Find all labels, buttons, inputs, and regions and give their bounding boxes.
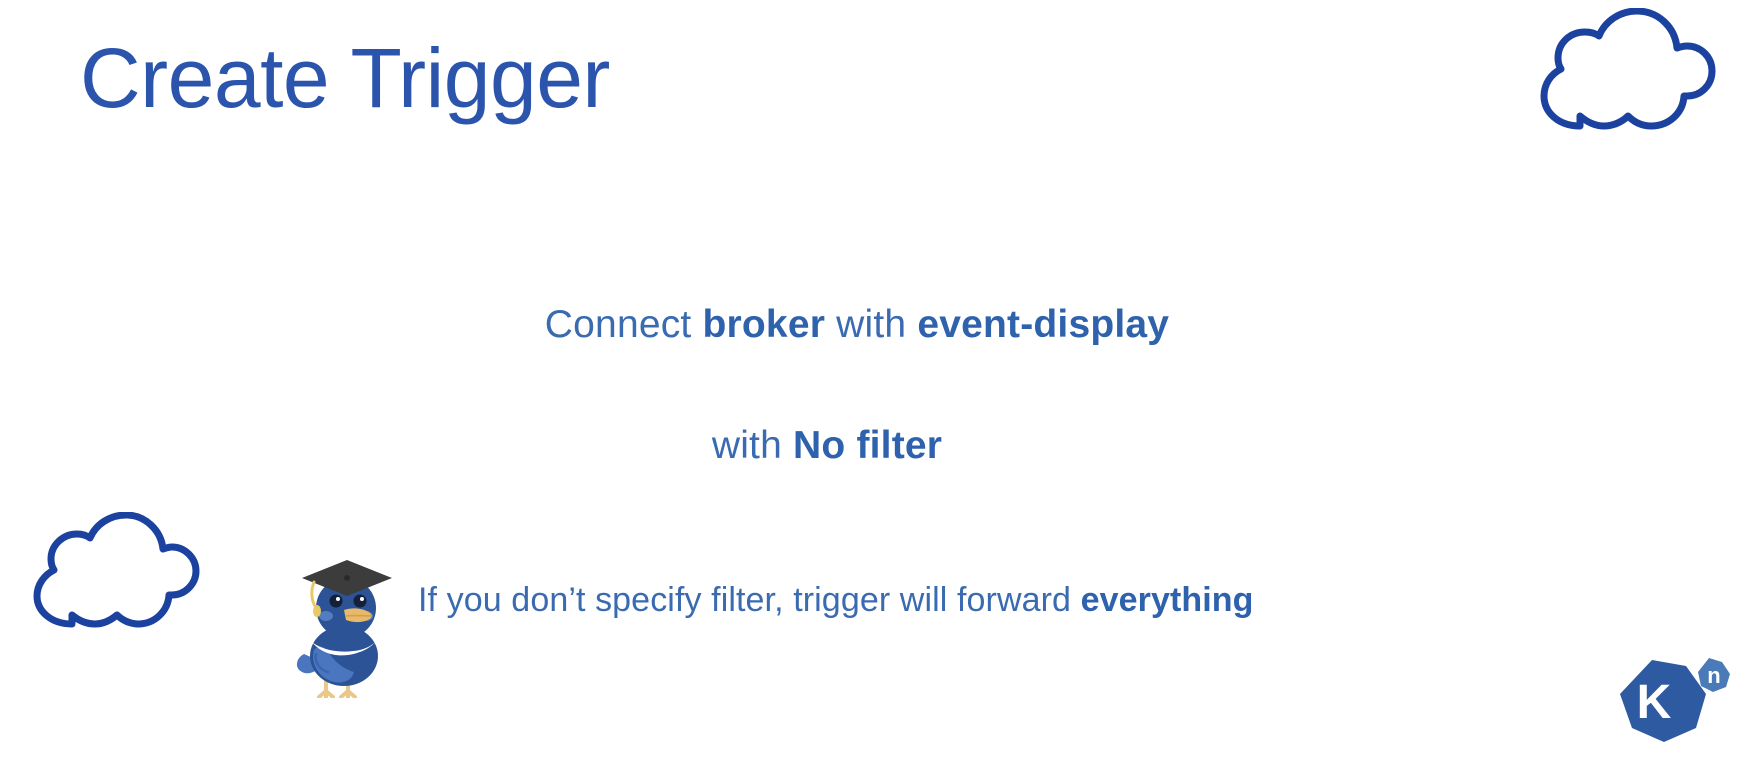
line1-bold-event-display: event-display [917,303,1169,346]
body-line-3: If you don’t specify filter, trigger wil… [418,581,1254,620]
knative-logo-k: K [1637,676,1672,729]
cloud-outline-icon [1518,8,1718,136]
line3-text-part1: If you don’t specify filter, trigger wil… [418,581,1081,619]
line2-bold-no-filter: No filter [793,424,942,467]
knative-logo-n: n [1707,663,1720,688]
slide-canvas: Create Trigger Connect broker with event… [0,0,1750,766]
line3-bold-everything: everything [1081,581,1254,619]
knative-logo: K n [1612,652,1734,752]
cloud-outline-icon [14,512,206,632]
body-line-1: Connect broker with event-display [0,303,1732,347]
line1-bold-broker: broker [703,303,826,346]
graduate-bird-mascot-icon [292,558,400,698]
line1-text-part1: Connect [545,303,703,346]
body-line-2: with No filter [0,424,1702,468]
line2-text-part1: with [712,424,793,467]
page-title: Create Trigger [80,36,610,120]
line1-text-part2: with [825,303,917,346]
